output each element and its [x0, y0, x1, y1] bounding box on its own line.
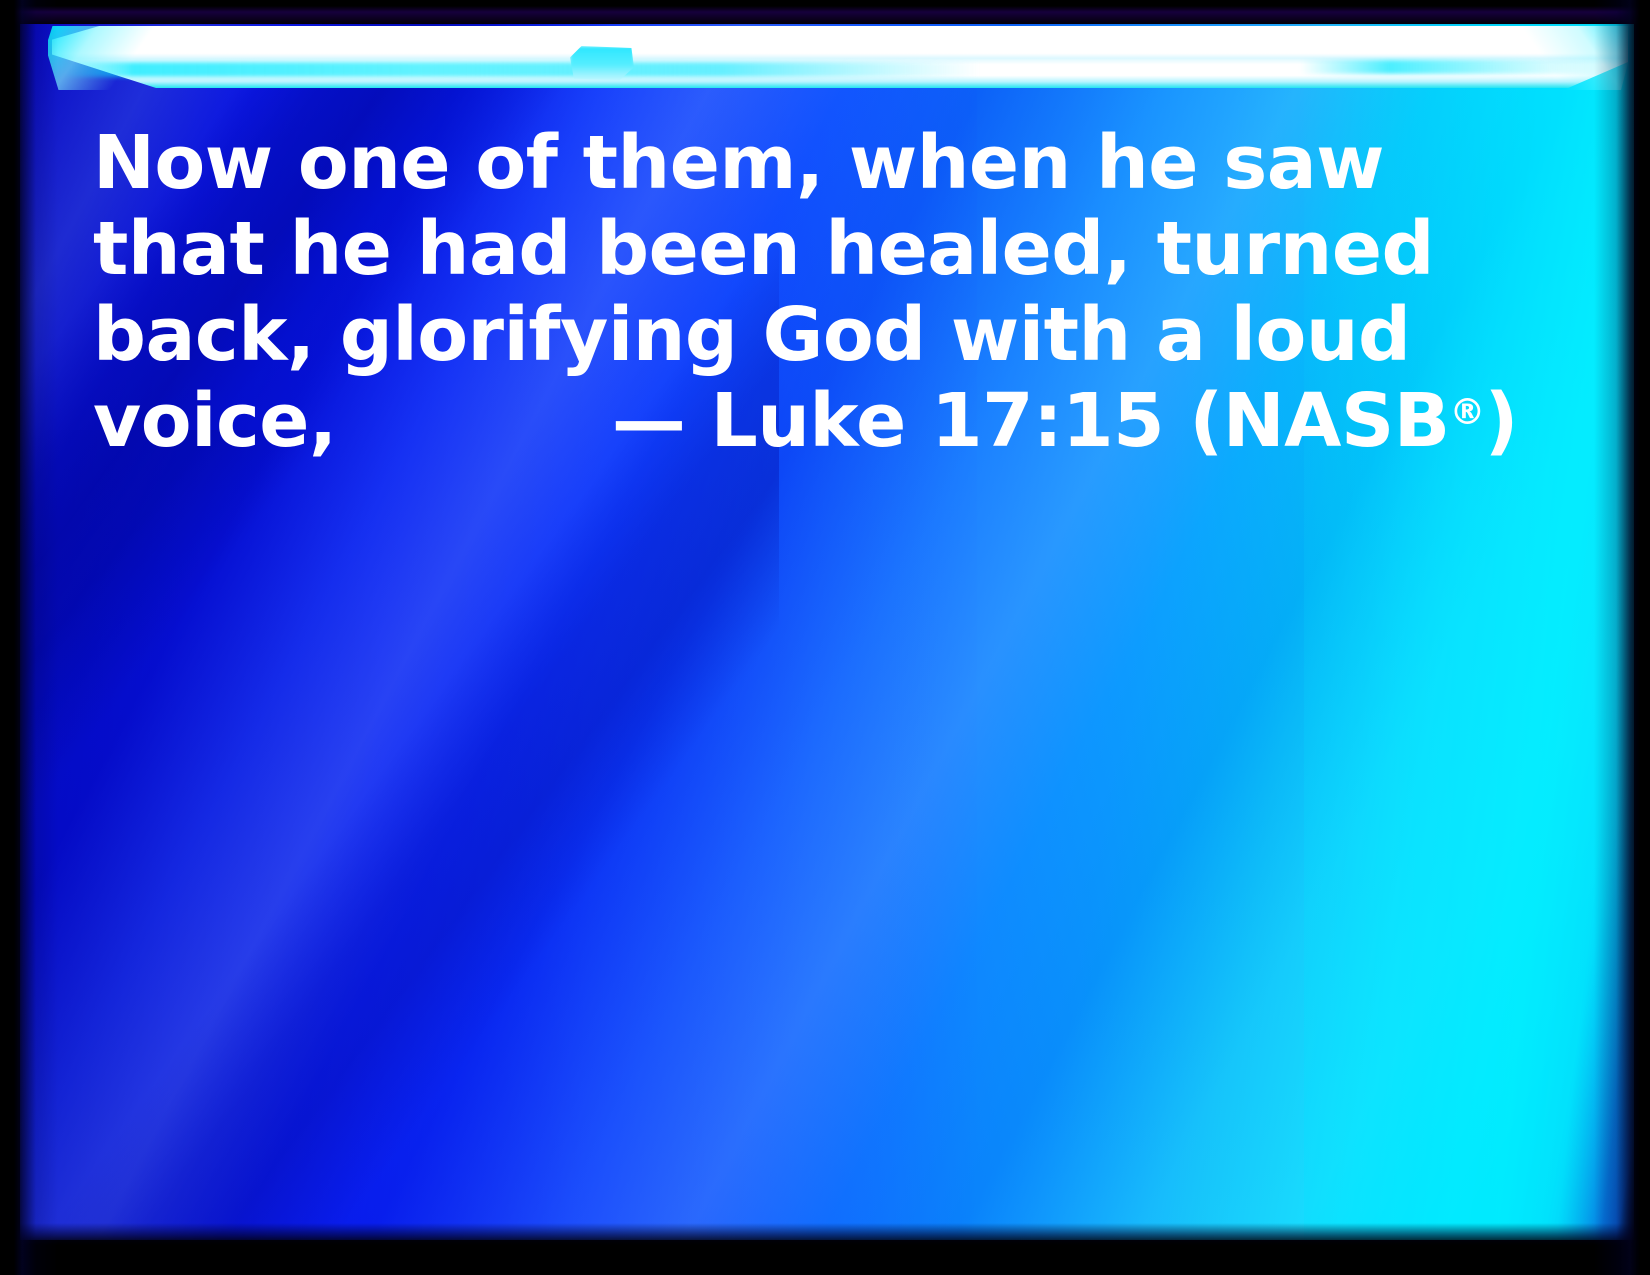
attribution-reference: Luke 17:15 [711, 378, 1165, 464]
top-banner [52, 26, 1628, 88]
attribution-dash: — [612, 378, 686, 464]
attribution-translation-close: ) [1485, 378, 1518, 464]
background-dark-diagonal-band-lower [20, 430, 581, 1240]
verse-attribution: — Luke 17:15 (NASB®) [93, 378, 1518, 464]
attribution-translation-open: (NASB [1189, 378, 1449, 464]
registered-trademark-icon: ® [1450, 392, 1485, 433]
verse-slide: Now one of them, when he saw that he had… [0, 0, 1650, 1275]
